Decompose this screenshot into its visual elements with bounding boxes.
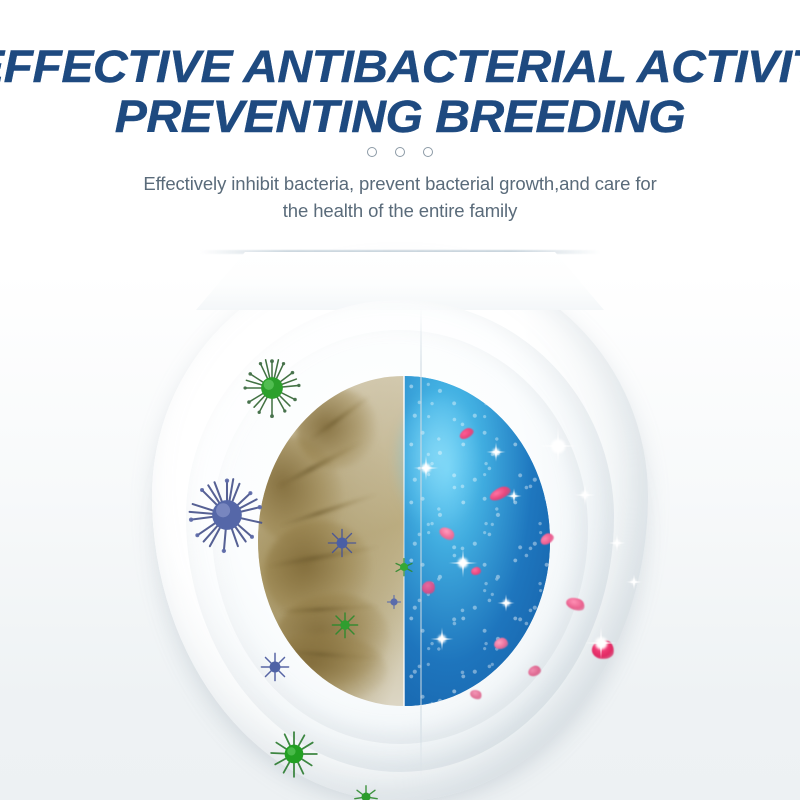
before-after-split-line	[420, 308, 422, 778]
germ-blue-small-lower	[258, 650, 292, 684]
before-after-seam	[403, 376, 405, 706]
germ-blue-tiny-center	[385, 593, 403, 611]
hero-product-image	[0, 238, 800, 800]
germ-green-small-bottom	[352, 783, 380, 800]
subtitle-line-2: the health of the entire family	[0, 197, 800, 224]
divider-dots	[0, 147, 800, 157]
germ-green-small-mid	[393, 556, 415, 578]
germ-blue-large-left	[188, 476, 266, 554]
subtitle-line-1: Effectively inhibit bacteria, prevent ba…	[0, 170, 800, 197]
clean-half-after	[404, 376, 550, 706]
promo-banner: EFFECTIVE ANTIBACTERIAL ACTIVITY PREVENT…	[0, 0, 800, 800]
page-title: EFFECTIVE ANTIBACTERIAL ACTIVITY PREVENT…	[0, 44, 800, 140]
divider-dot-3	[423, 147, 433, 157]
bowl-water-pool	[258, 376, 550, 706]
headline-line-1: EFFECTIVE ANTIBACTERIAL ACTIVITY	[0, 44, 800, 90]
subtitle: Effectively inhibit bacteria, prevent ba…	[0, 170, 800, 224]
divider-dot-2	[395, 147, 405, 157]
germ-blue-small-mid	[325, 526, 359, 560]
water-bubble-texture	[404, 376, 550, 706]
germ-green-large-upper	[240, 356, 304, 420]
headline-line-2: PREVENTING BREEDING	[0, 94, 800, 140]
germ-green-large-lower	[268, 728, 320, 780]
divider-dot-1	[367, 147, 377, 157]
germ-green-mid	[330, 610, 360, 640]
